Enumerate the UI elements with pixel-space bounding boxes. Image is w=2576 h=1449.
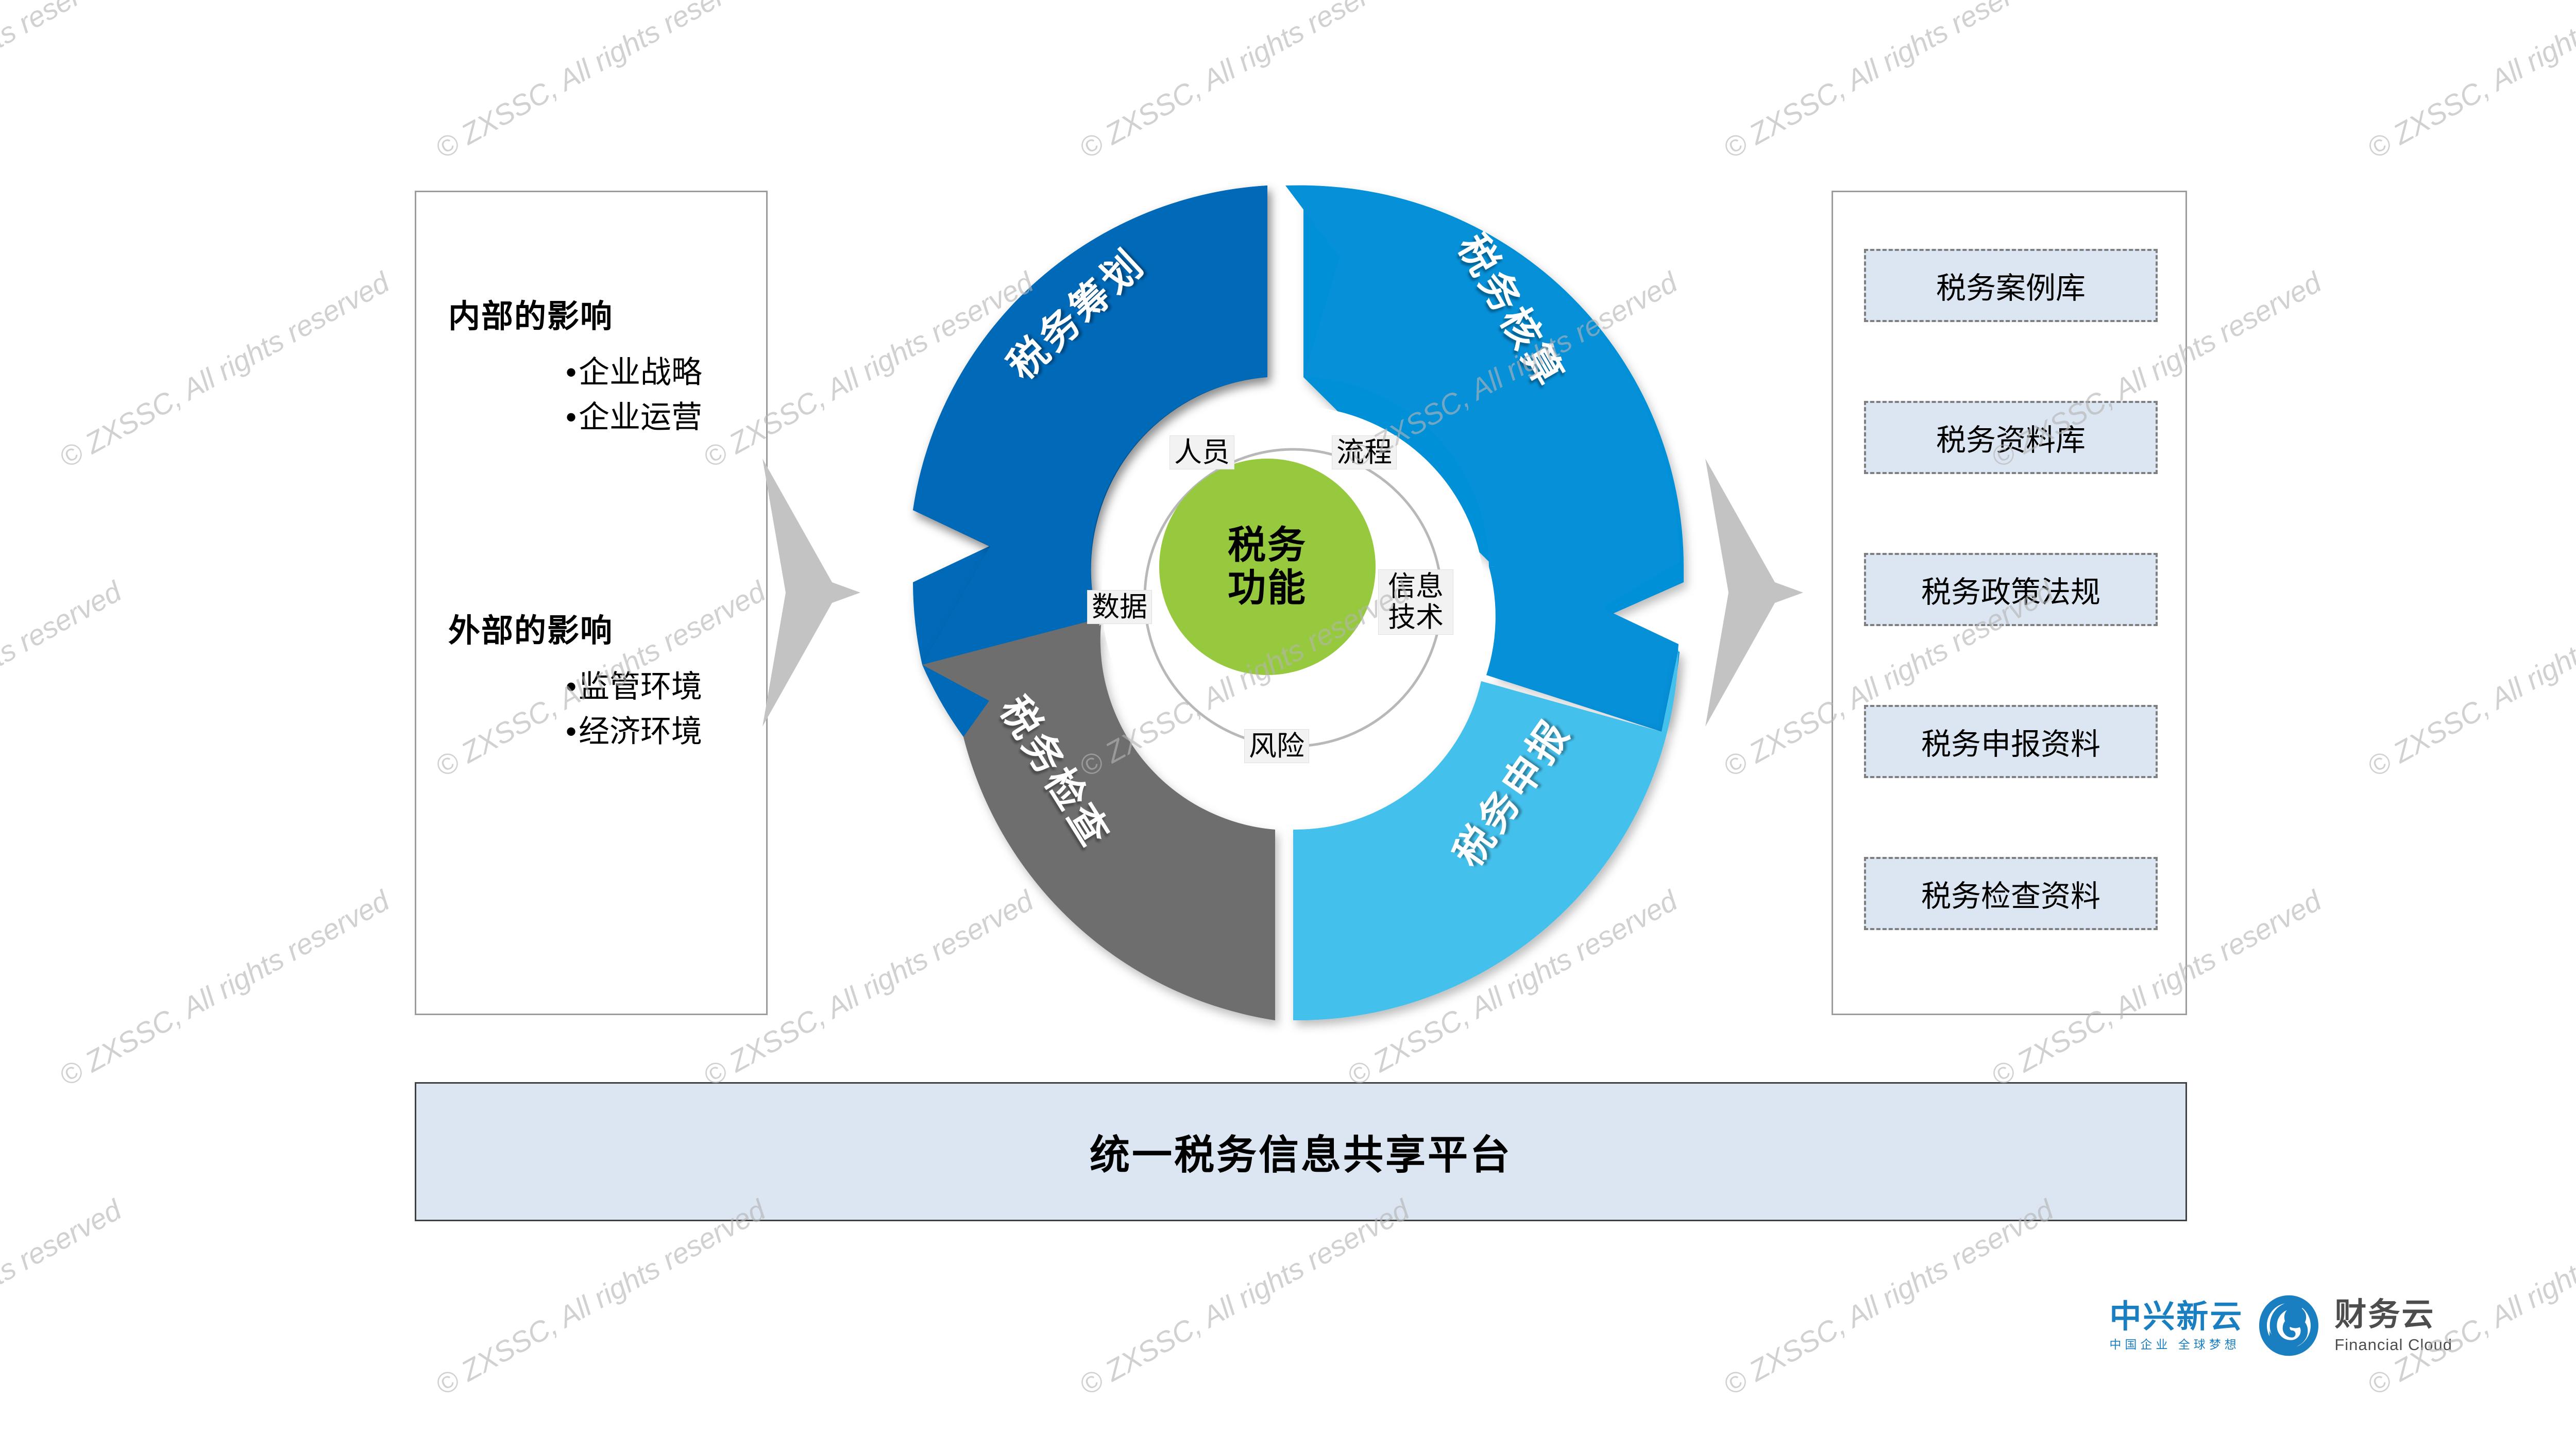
watermark-text: © ZXSSC, All rights reserved — [2362, 575, 2576, 784]
watermark-text: © ZXSSC, All rights reserved — [1074, 1193, 1415, 1402]
watermark-text: © ZXSSC, All rights reserved — [1718, 1193, 2059, 1402]
resource-box-label: 税务政策法规 — [1921, 568, 2100, 611]
resource-box-policy-regs[interactable]: 税务政策法规 — [1864, 553, 2158, 626]
logo-brand-name: 中兴新云 — [2109, 1301, 2243, 1333]
watermark-text: © ZXSSC, All rights reserved — [1074, 0, 1415, 165]
inner-label-personnel: 人员 — [1170, 435, 1234, 469]
watermark-text: © ZXSSC, All rights reserved — [0, 0, 127, 165]
internal-influence-list: •企业战略 •企业运营 — [416, 350, 766, 440]
list-item: •企业战略 — [566, 350, 766, 395]
external-influence-list: •监管环境 •经济环境 — [416, 664, 766, 754]
unified-platform-label: 统一税务信息共享平台 — [1090, 1123, 1512, 1181]
watermark-text: © ZXSSC, All rights reserved — [1718, 0, 2059, 165]
internal-influence-title: 内部的影响 — [416, 290, 766, 336]
external-influence-group: 外部的影响 •监管环境 •经济环境 — [416, 604, 766, 754]
list-item-label: 企业战略 — [579, 355, 702, 390]
bullet-dot-icon: • — [566, 350, 577, 395]
list-item: •企业运营 — [566, 395, 766, 440]
watermark-text: © ZXSSC, All rights reserved — [54, 884, 395, 1093]
bullet-dot-icon: • — [566, 395, 577, 440]
resource-box-label: 税务案例库 — [1936, 264, 2086, 307]
resource-box-label: 税务检查资料 — [1921, 872, 2100, 915]
logo-brand-block: 中兴新云 中国企业 全球梦想 — [2109, 1301, 2243, 1351]
logo-swirl-icon — [2257, 1293, 2321, 1358]
list-item-label: 经济环境 — [579, 714, 702, 749]
resource-box-label: 税务资料库 — [1936, 416, 2086, 459]
resource-box-inspection-docs[interactable]: 税务检查资料 — [1864, 857, 2158, 930]
inner-label-it-line2: 技术 — [1383, 602, 1449, 633]
watermark-text: © ZXSSC, All rights reserved — [0, 1193, 127, 1402]
inner-label-risk: 风险 — [1244, 729, 1309, 763]
bullet-dot-icon: • — [566, 709, 577, 754]
inner-label-data: 数据 — [1087, 590, 1152, 624]
company-logo: 中兴新云 中国企业 全球梦想 财务云 Financial Cloud — [2109, 1293, 2452, 1358]
logo-product-block: 财务云 Financial Cloud — [2334, 1299, 2452, 1353]
logo-brand-tagline: 中国企业 全球梦想 — [2109, 1339, 2240, 1351]
list-item-label: 监管环境 — [579, 669, 702, 704]
inner-label-it-line1: 信息 — [1383, 571, 1449, 602]
resource-box-case-library[interactable]: 税务案例库 — [1864, 249, 2158, 322]
inner-label-process: 流程 — [1332, 435, 1397, 469]
watermark-text: © ZXSSC, All rights reserved — [430, 0, 771, 165]
logo-product-name: 财务云 — [2334, 1299, 2435, 1331]
list-item-label: 企业运营 — [579, 400, 702, 434]
watermark-text: © ZXSSC, All rights reserved — [2362, 0, 2576, 165]
right-arrow-icon — [1700, 453, 1814, 732]
resource-box-data-library[interactable]: 税务资料库 — [1864, 401, 2158, 474]
core-label-line1: 税务 — [1228, 524, 1307, 567]
tax-function-donut-diagram: 税务筹划 税务核算 税务申报 税务检查 人员 流程 信息 技术 风险 数据 税务… — [768, 155, 1834, 1031]
left-influences-panel: 内部的影响 •企业战略 •企业运营 外部的影响 •监管环境 •经济环境 — [415, 191, 768, 1015]
core-label-line2: 功能 — [1228, 567, 1307, 610]
bullet-dot-icon: • — [566, 664, 577, 709]
unified-platform-banner: 统一税务信息共享平台 — [415, 1082, 2187, 1221]
logo-product-name-en: Financial Cloud — [2334, 1337, 2452, 1353]
resource-box-label: 税务申报资料 — [1921, 720, 2100, 763]
core-tax-function-circle: 税务 功能 — [1159, 459, 1376, 675]
left-arrow-icon — [757, 453, 871, 732]
inner-label-it: 信息 技术 — [1378, 569, 1453, 635]
external-influence-title: 外部的影响 — [416, 604, 766, 651]
internal-influence-group: 内部的影响 •企业战略 •企业运营 — [416, 290, 766, 440]
resource-box-filing-docs[interactable]: 税务申报资料 — [1864, 705, 2158, 778]
watermark-text: © ZXSSC, All rights reserved — [54, 265, 395, 475]
list-item: •监管环境 — [566, 664, 766, 709]
watermark-text: © ZXSSC, All rights reserved — [0, 575, 127, 784]
watermark-text: © ZXSSC, All rights reserved — [430, 1193, 771, 1402]
list-item: •经济环境 — [566, 709, 766, 754]
tax-resources-panel: 税务案例库 税务资料库 税务政策法规 税务申报资料 税务检查资料 — [1832, 191, 2187, 1015]
